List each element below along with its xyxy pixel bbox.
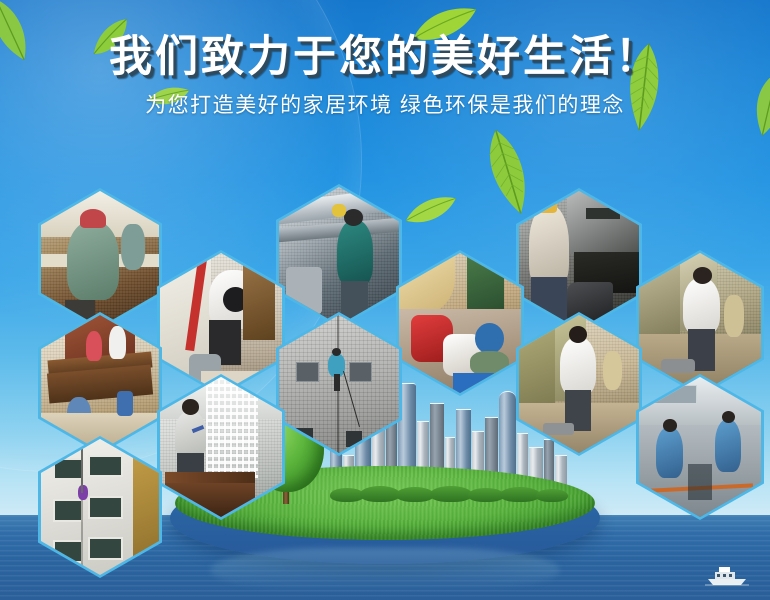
island-reflection (210, 548, 560, 592)
boat-icon (705, 564, 749, 586)
hex-carpet-machine[interactable] (396, 250, 524, 396)
leaf-center-falling (471, 123, 542, 223)
headline-subtitle: 为您打造美好的家居环境 绿色环保是我们的理念 (0, 91, 770, 121)
hex-tiling-worker[interactable] (38, 188, 162, 330)
hex-kitchen-degrease[interactable] (516, 188, 642, 332)
headline-title: 我们致力于您的美好生活！ (0, 30, 770, 84)
leaf-center-small (402, 193, 461, 229)
headline-block: 我们致力于您的美好生活！ 为您打造美好的家居环境 绿色环保是我们的理念 (0, 30, 770, 121)
hex-duct-cleaning[interactable] (276, 184, 402, 328)
promo-banner: 我们致力于您的美好生活！ 为您打造美好的家居环境 绿色环保是我们的理念 (0, 0, 770, 600)
